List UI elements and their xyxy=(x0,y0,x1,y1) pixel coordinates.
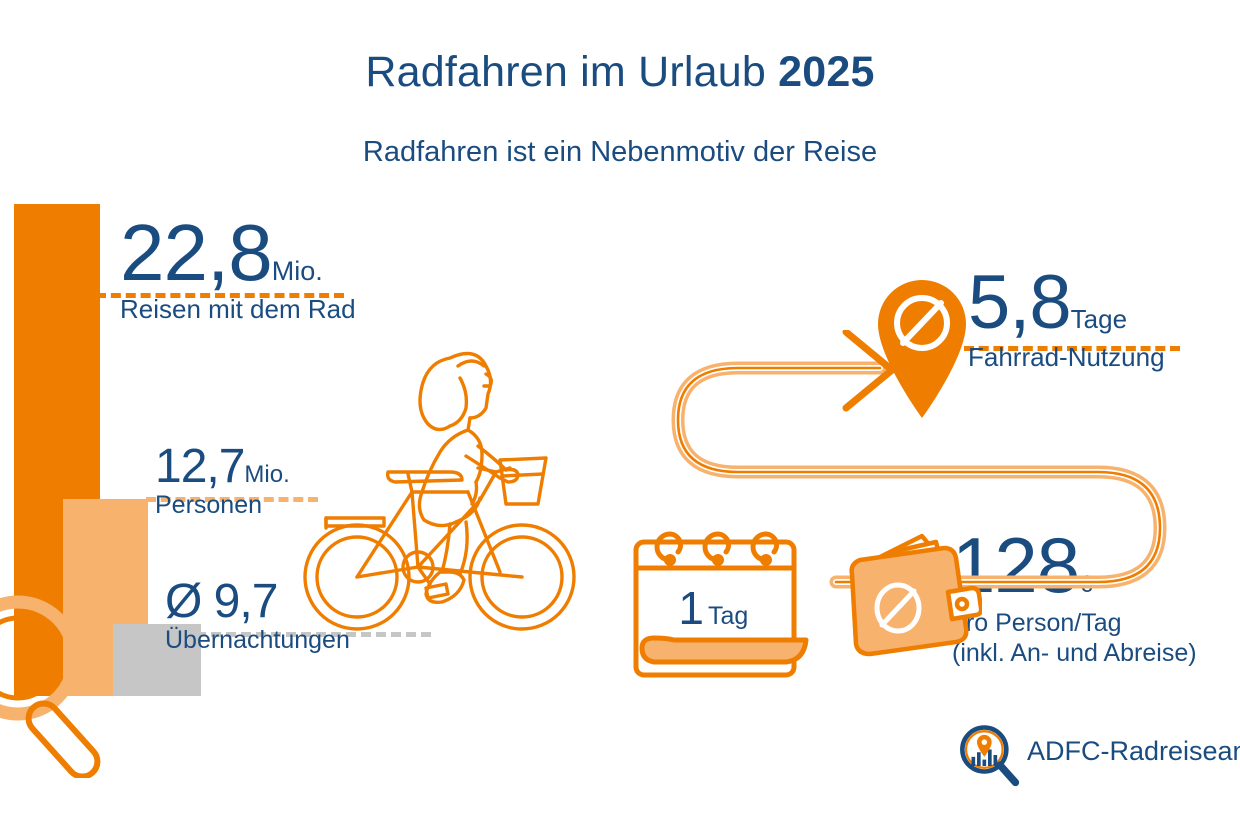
stat-persons-unit: Mio. xyxy=(244,461,289,488)
stat-travels-value: 22,8 xyxy=(120,208,272,297)
title-year-text: 2025 xyxy=(778,48,874,96)
infographic-canvas: Radfahren im Urlaub 2025 Radfahren ist e… xyxy=(0,0,1240,827)
stat-overnight-stays-value: Ø 9,7 xyxy=(165,575,277,628)
stat-travels-unit: Mio. xyxy=(272,256,323,286)
calendar-icon: 1 Tag xyxy=(626,520,826,682)
magnifier-icon xyxy=(0,588,160,778)
calendar-unit: Tag xyxy=(708,602,748,630)
stat-persons-label: Personen xyxy=(155,491,290,520)
adfc-magnifier-chart-icon xyxy=(955,722,1021,788)
adfc-logo-text: ADFC-Radreiseanalyse xyxy=(1027,736,1240,767)
stat-cost-label-line2: (inkl. An- und Abreise) xyxy=(952,639,1197,667)
stat-travels-label: Reisen mit dem Rad xyxy=(120,294,356,325)
page-subtitle: Radfahren ist ein Nebenmotiv der Reise xyxy=(0,136,1240,169)
stat-travels: 22,8Mio. Reisen mit dem Rad xyxy=(120,216,356,325)
cyclist-illustration xyxy=(300,322,600,657)
stat-persons-value: 12,7 xyxy=(155,440,244,493)
adfc-logo: ADFC-Radreiseanalyse xyxy=(955,722,1235,794)
calendar-number: 1 xyxy=(678,582,704,634)
stat-persons: 12,7Mio. Personen xyxy=(155,445,290,520)
wallet-icon xyxy=(840,530,982,662)
map-pin-icon xyxy=(862,266,982,421)
page-title: Radfahren im Urlaub 2025 xyxy=(0,48,1240,97)
title-main-text: Radfahren im Urlaub xyxy=(365,48,778,96)
